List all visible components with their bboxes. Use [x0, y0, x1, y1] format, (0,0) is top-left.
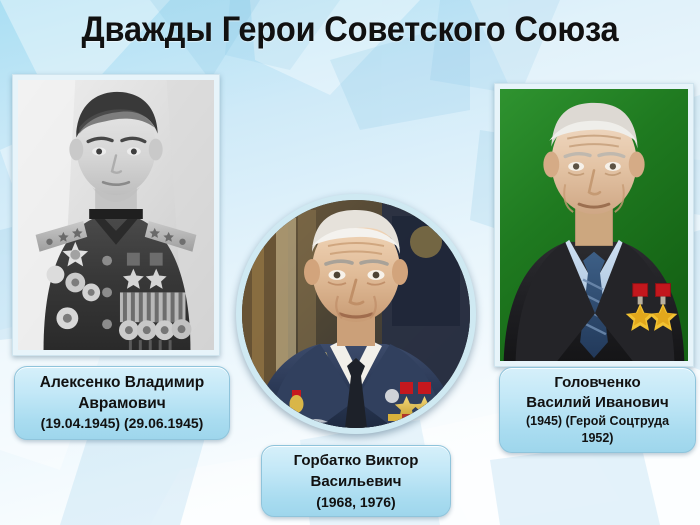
caption-gorbatko: Горбатко Виктор Васильевич (1968, 1976) — [261, 445, 451, 517]
caption-name-line2: Василий Иванович — [506, 393, 689, 413]
green-portrait-canvas — [500, 89, 688, 361]
caption-name-line1: Алексенко Владимир — [21, 372, 223, 393]
bw-portrait-canvas — [18, 80, 214, 350]
caption-name-line1: Головченко — [506, 373, 689, 393]
caption-dates: (1968, 1976) — [268, 492, 444, 512]
caption-name-line1: Горбатко Виктор — [268, 450, 444, 471]
photo-alexenko — [12, 74, 220, 356]
photo-golovchenko — [494, 83, 694, 367]
caption-name-line2: Васильевич — [268, 471, 444, 492]
presentation-slide: Дважды Герои Советского Союза — [0, 0, 700, 525]
caption-dates-line1: (1945) (Герой Соцтруда — [506, 413, 689, 430]
photo-golovchenko-image — [500, 89, 688, 361]
caption-alexenko: Алексенко Владимир Аврамович (19.04.1945… — [14, 366, 230, 440]
caption-name-line2: Аврамович — [21, 393, 223, 414]
caption-golovchenko: Головченко Василий Иванович (1945) (Геро… — [499, 367, 696, 453]
caption-dates-line2: 1952) — [506, 430, 689, 447]
caption-dates: (19.04.1945) (29.06.1945) — [21, 414, 223, 433]
page-title: Дважды Герои Советского Союза — [25, 8, 676, 52]
photo-gorbatko — [236, 194, 476, 434]
photo-gorbatko-image — [242, 200, 470, 428]
photo-alexenko-image — [18, 80, 214, 350]
